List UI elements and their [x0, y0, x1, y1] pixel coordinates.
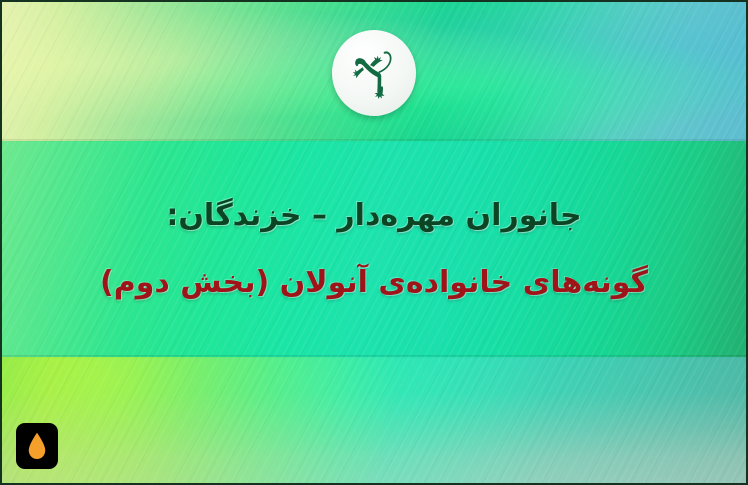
slide-title-line-1: جانوران مهره‌دار – خزندگان:: [166, 197, 581, 235]
slide-title-line-2: گونه‌های خانواده‌ی آنولان (بخش دوم): [100, 264, 648, 302]
gecko-lizard-icon: [332, 30, 416, 116]
slide-title-block: جانوران مهره‌دار – خزندگان: گونه‌های خان…: [2, 141, 746, 357]
presentation-slide: جانوران مهره‌دار – خزندگان: گونه‌های خان…: [0, 0, 748, 485]
water-droplet-icon[interactable]: [16, 423, 58, 469]
background-band-bottom: [2, 357, 746, 483]
